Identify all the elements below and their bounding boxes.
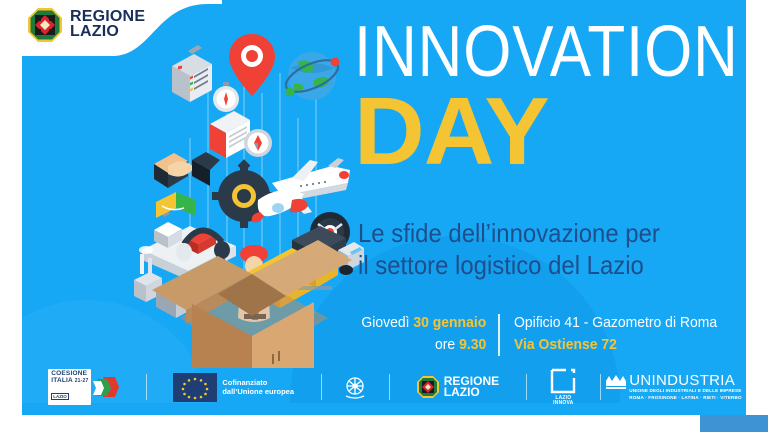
date-value: 30 gennaio xyxy=(413,314,486,331)
subtitle-line-2: il settore logistico del Lazio xyxy=(358,250,652,282)
logo-regione-lazio-footer: REGIONE LAZIO xyxy=(390,376,525,399)
location-pin-icon xyxy=(229,34,275,96)
footer-divider-3 xyxy=(389,374,390,400)
coesione-arrow-icon xyxy=(93,375,119,399)
regione-lazio-footer-line-2: LAZIO xyxy=(444,387,499,398)
footer-divider-5 xyxy=(600,374,601,400)
gear-icon xyxy=(212,159,276,228)
time-value: 9.30 xyxy=(459,336,486,353)
subtitle-block: Le sfide dell’innovazione per il settore… xyxy=(358,218,652,281)
regione-lazio-emblem-icon xyxy=(28,8,62,42)
lazio-innova-square-icon xyxy=(550,368,576,394)
header-logo-line-2: LAZIO xyxy=(70,25,145,40)
logo-unindustria: UNINDUSTRIA UNIONE DEGLI INDUSTRIALI E D… xyxy=(601,373,746,401)
isometric-logistics-illustration xyxy=(132,18,372,368)
bottom-right-corner-block xyxy=(700,415,768,432)
date-prefix: Giovedì xyxy=(361,314,409,331)
compass-icon xyxy=(244,129,272,157)
left-white-margin xyxy=(0,56,22,415)
clipboard-checklist-icon xyxy=(172,45,212,102)
footer-divider-1 xyxy=(146,374,147,400)
event-time-line: ore 9.30 xyxy=(361,334,486,356)
footer-divider-4 xyxy=(526,374,527,400)
regione-lazio-mark-icon xyxy=(417,376,439,398)
coesione-region: LAZIO xyxy=(51,393,69,400)
subtitle-line-1: Le sfide dell’innovazione per xyxy=(358,218,652,250)
headline-block: INNOVATION DAY xyxy=(354,22,746,174)
unindustria-sub-2: ROMA · FROSINONE · LATINA · RIETI · VITE… xyxy=(629,395,741,401)
eu-flag-icon xyxy=(173,373,217,402)
footer-logo-bar: COESIONE ITALIA 21-27 LAZIO xyxy=(22,366,746,408)
event-venue: Opificio 41 - Gazometro di Roma Via Osti… xyxy=(500,312,732,356)
event-datetime: Giovedì 30 gennaio ore 9.30 xyxy=(352,312,498,356)
headline-day: DAY xyxy=(354,90,746,174)
headline-innovation: INNOVATION xyxy=(354,22,739,84)
footer-divider-2 xyxy=(321,374,322,400)
coesione-line-2: ITALIA xyxy=(51,377,72,384)
unindustria-sub-1: UNIONE DEGLI INDUSTRIALI E DELLE IMPRESE xyxy=(629,388,741,395)
event-date-line: Giovedì 30 gennaio xyxy=(361,312,486,334)
coesione-years: 21-27 xyxy=(75,378,89,384)
logo-repubblica-italiana xyxy=(322,372,390,402)
poster-background: INNOVATION DAY Le sfide dell’innovazione… xyxy=(22,0,746,415)
unindustria-name: UNINDUSTRIA xyxy=(629,373,741,388)
right-white-margin xyxy=(746,0,768,415)
eu-text-line-2: dall’Unione europea xyxy=(222,387,294,396)
logo-lazio-innova: LAZIO INNOVA xyxy=(527,368,600,407)
lazio-innova-line-2: INNOVA xyxy=(553,401,573,407)
event-info-row: Giovedì 30 gennaio ore 9.30 Opificio 41 … xyxy=(352,312,733,356)
header-logo-text: REGIONE LAZIO xyxy=(70,10,145,39)
logo-european-union: Cofinanziato dall’Unione europea xyxy=(147,373,321,402)
poster-canvas: INNOVATION DAY Le sfide dell’innovazione… xyxy=(0,0,768,432)
info-divider xyxy=(498,314,500,356)
stopwatch-icon xyxy=(213,82,239,112)
logo-coesione-italia: COESIONE ITALIA 21-27 LAZIO xyxy=(22,369,146,405)
handshake-icon xyxy=(154,152,220,188)
eu-text-line-1: Cofinanziato xyxy=(222,378,294,387)
header-regione-lazio-logo: REGIONE LAZIO xyxy=(28,8,145,42)
venue-line-2: Via Ostiense 72 xyxy=(514,334,717,356)
venue-line-1: Opificio 41 - Gazometro di Roma xyxy=(514,312,717,334)
globe-network-icon xyxy=(282,52,343,100)
time-prefix: ore xyxy=(435,336,455,353)
unindustria-crown-icon xyxy=(605,374,627,394)
republic-emblem-icon xyxy=(340,372,370,402)
